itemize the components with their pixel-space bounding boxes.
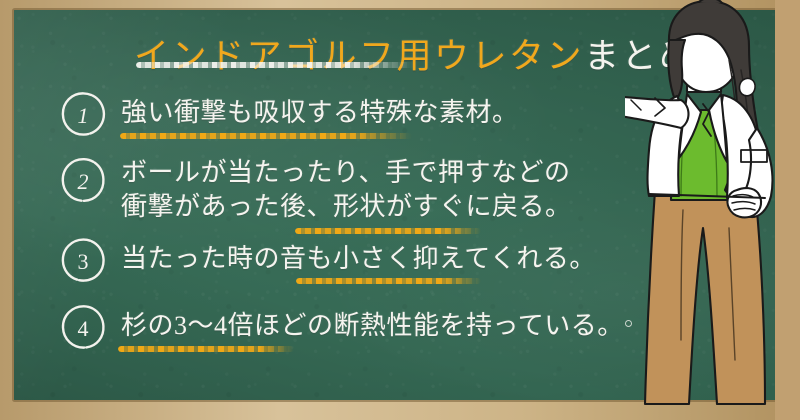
- item-3-line-1: 当たった時の音も小さく抑えてくれる。: [121, 242, 596, 276]
- number-label-1: 1: [78, 103, 89, 128]
- number-circle-2: 2: [60, 157, 106, 203]
- presenter-illustration: [625, 0, 800, 420]
- number-label-4: 4: [78, 316, 89, 341]
- number-circle-4: 4: [60, 304, 106, 350]
- title-block: インドアゴルフ用ウレタンまとめ: [134, 28, 674, 79]
- number-label-2: 2: [78, 169, 89, 194]
- item-1-underline: [120, 133, 412, 139]
- number-circle-3: 3: [60, 237, 106, 283]
- slide-canvas: インドアゴルフ用ウレタンまとめ 1 強い衝撃も吸収する特殊な素材。: [0, 0, 800, 420]
- item-2-line-1: ボールが当たったり、手で押すなどの: [121, 156, 570, 190]
- item-3-underline: [296, 278, 481, 284]
- item-2-underline: [295, 228, 481, 234]
- title-underline: [136, 62, 414, 68]
- page-title: インドアゴルフ用ウレタンまとめ: [134, 28, 674, 79]
- number-label-3: 3: [78, 249, 89, 274]
- number-circle-1: 1: [60, 91, 106, 137]
- item-4-line-1: 杉の3〜4倍ほどの断熱性能を持っている。: [121, 309, 624, 343]
- item-1-line-1: 強い衝撃も吸収する特殊な素材。: [121, 96, 519, 130]
- item-2-line-2: 衝撃があった後、形状がすぐに戻る。: [121, 190, 572, 224]
- title-accent-text: インドアゴルフ用ウレタン: [134, 37, 584, 76]
- item-4-underline: [118, 346, 294, 352]
